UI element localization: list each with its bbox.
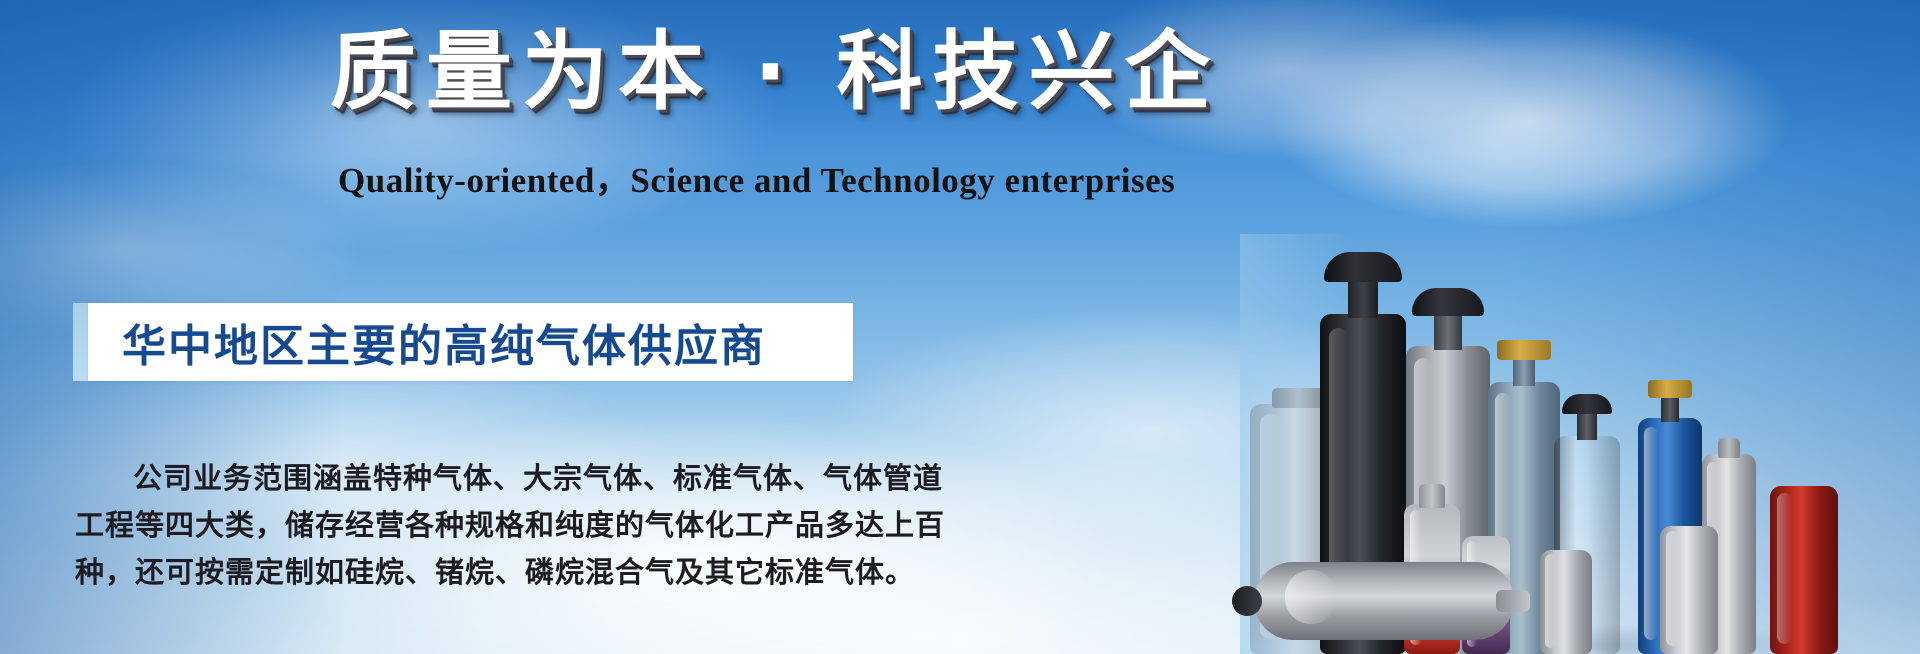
page-subtitle: Quality-oriented，Science and Technology … — [338, 160, 1238, 202]
paragraph-line-2: 工程等四大类，储存经营各种规格和纯度的气体化工产品多达上百 — [75, 502, 875, 549]
brass-valve-icon — [1497, 340, 1551, 360]
highlight-banner: 华中地区主要的高纯气体供应商 — [88, 303, 853, 381]
hero-banner: 质量为本 · 科技兴企 Quality-oriented，Science and… — [0, 0, 1920, 654]
paragraph-line-3: 种，还可按需定制如硅烷、锗烷、磷烷混合气及其它标准气体。 — [75, 549, 875, 596]
page-title: 质量为本 · 科技兴企 — [330, 22, 1240, 123]
gas-cylinder-group-photo — [1240, 234, 1920, 654]
highlight-accent-tab — [73, 303, 89, 381]
paragraph-line-1: 公司业务范围涵盖特种气体、大宗气体、标准气体、气体管道 — [75, 455, 875, 502]
cylinder-dark-red — [1770, 486, 1838, 654]
brass-valve-icon — [1648, 380, 1692, 398]
tank-horizontal-grey — [1254, 562, 1514, 640]
cylinder-aluminium-mini — [1540, 550, 1592, 654]
highlight-banner-text: 华中地区主要的高纯气体供应商 — [88, 310, 766, 374]
cylinder-aluminium-short — [1660, 526, 1718, 654]
description-paragraph: 公司业务范围涵盖特种气体、大宗气体、标准气体、气体管道 工程等四大类，储存经营各… — [75, 455, 875, 596]
